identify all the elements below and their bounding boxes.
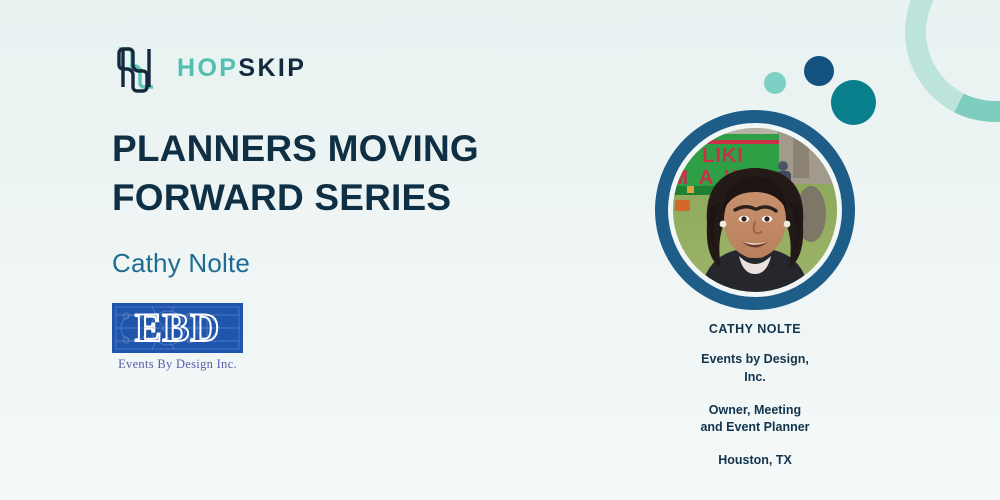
speaker-portrait: LIKI M A K A (655, 110, 855, 310)
caption-company-line-1: Events by Design, (655, 351, 855, 369)
caption-name: CATHY NOLTE (655, 322, 855, 336)
wordmark-skip: SKIP (238, 54, 306, 82)
hopskip-h-monogram-icon (112, 43, 160, 93)
caption-role-line-1: Owner, Meeting (655, 402, 855, 420)
decorative-dot-navy (804, 56, 834, 86)
svg-text:LIKI: LIKI (702, 145, 744, 167)
slide-canvas: HOPSKIP PLANNERS MOVING FORWARD SERIES C… (0, 0, 1000, 500)
hopskip-logo: HOPSKIP (112, 42, 612, 94)
company-tagline: Events By Design Inc. (112, 357, 243, 372)
caption-company: Events by Design, Inc. (655, 351, 855, 387)
page-title: PLANNERS MOVING FORWARD SERIES (112, 124, 612, 222)
hopskip-wordmark: HOPSKIP (177, 54, 306, 83)
company-logo-ebd: EBD Events By Design Inc. (112, 303, 243, 372)
wordmark-hop: HOP (177, 54, 238, 82)
left-content-column: HOPSKIP PLANNERS MOVING FORWARD SERIES C… (112, 42, 612, 372)
caption-company-line-2: Inc. (655, 369, 855, 387)
caption-location: Houston, TX (655, 452, 855, 470)
caption-role-line-2: and Event Planner (655, 419, 855, 437)
headline-line-1: PLANNERS MOVING (112, 124, 612, 173)
avatar: LIKI M A K A (673, 128, 837, 292)
company-logo-mark: EBD (112, 303, 243, 353)
company-monogram: EBD (112, 303, 243, 353)
decorative-ring-arc (882, 0, 1000, 145)
decorative-dot-light-teal (764, 72, 786, 94)
headline-line-2: FORWARD SERIES (112, 173, 612, 222)
caption-role: Owner, Meeting and Event Planner (655, 402, 855, 438)
speaker-caption: CATHY NOLTE Events by Design, Inc. Owner… (655, 322, 855, 470)
speaker-name: Cathy Nolte (112, 248, 612, 279)
